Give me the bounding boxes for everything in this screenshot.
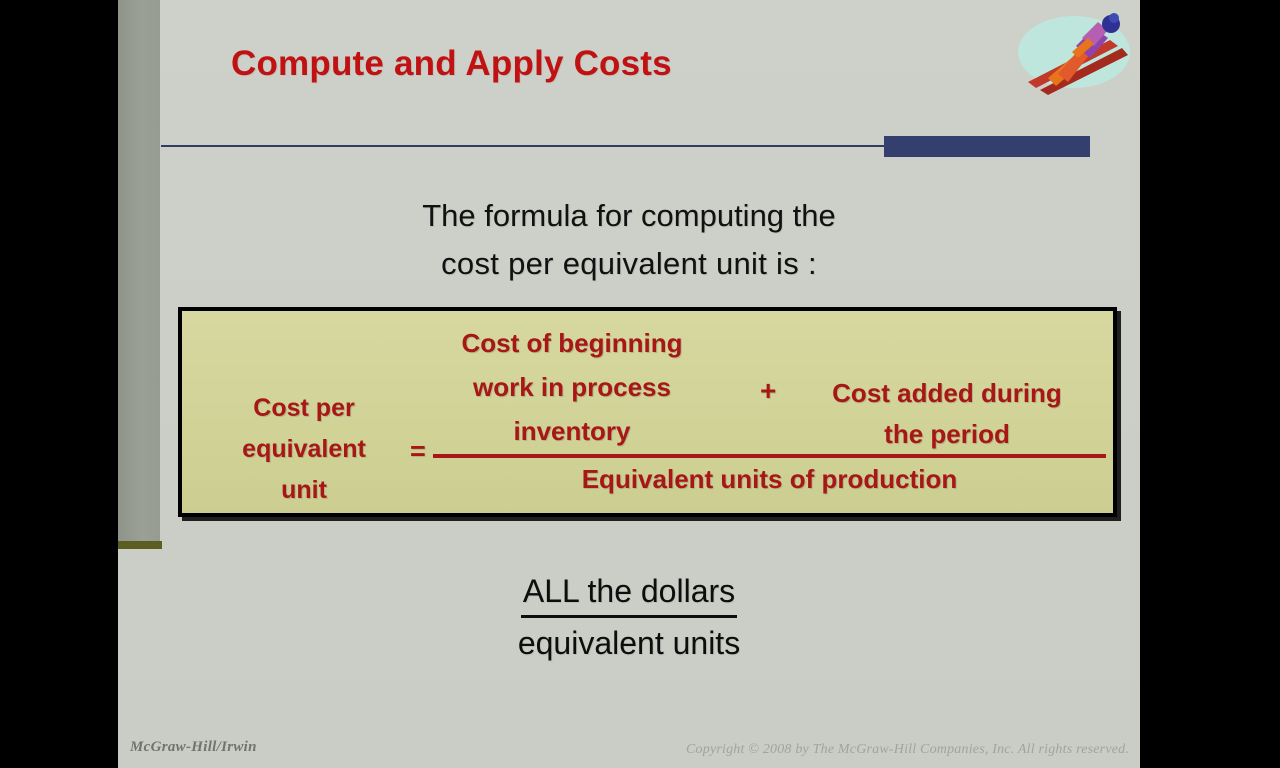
intro-line-2: cost per equivalent unit is : [118, 240, 1140, 288]
formula-left-label: Cost per equivalent unit [204, 388, 404, 511]
screenshot-stage: Compute and Apply Costs [0, 0, 1280, 768]
formula-left-label-line-1: Cost per [204, 388, 404, 429]
simple-fraction-denominator: equivalent units [118, 622, 1140, 665]
formula-denominator: Equivalent units of production [433, 464, 1106, 495]
simple-fraction: ALL the dollars equivalent units [118, 570, 1140, 665]
intro-line-1: The formula for computing the [118, 192, 1140, 240]
numerator-term-2-line-1: Cost added during [787, 373, 1107, 414]
formula-left-label-line-2: equivalent [204, 429, 404, 470]
formula-box: Cost per equivalent unit = Cost of begin… [178, 307, 1117, 517]
numerator-term-1-line-3: inventory [394, 409, 750, 453]
skier-logo-icon [1010, 2, 1138, 102]
numerator-term-1-line-1: Cost of beginning [394, 321, 750, 365]
presentation-slide: Compute and Apply Costs [118, 0, 1140, 768]
formula-left-label-line-3: unit [204, 470, 404, 511]
footer-copyright: Copyright © 2008 by The McGraw-Hill Comp… [686, 742, 1129, 758]
numerator-term-1-line-2: work in process [394, 365, 750, 409]
footer-publisher: McGraw-Hill/Irwin [130, 739, 257, 756]
formula-fraction-bar [433, 454, 1106, 458]
title-navy-tab [884, 136, 1090, 157]
numerator-term-2-line-2: the period [787, 414, 1107, 455]
olive-accent-bar [118, 541, 162, 549]
intro-text: The formula for computing the cost per e… [118, 192, 1140, 288]
simple-fraction-numerator: ALL the dollars [521, 570, 737, 618]
slide-title: Compute and Apply Costs [231, 44, 672, 84]
title-divider-line [161, 145, 886, 147]
formula-numerator-term-1: Cost of beginning work in process invent… [394, 321, 750, 453]
formula-plus-sign: + [760, 375, 776, 407]
formula-numerator-term-2: Cost added during the period [787, 373, 1107, 455]
